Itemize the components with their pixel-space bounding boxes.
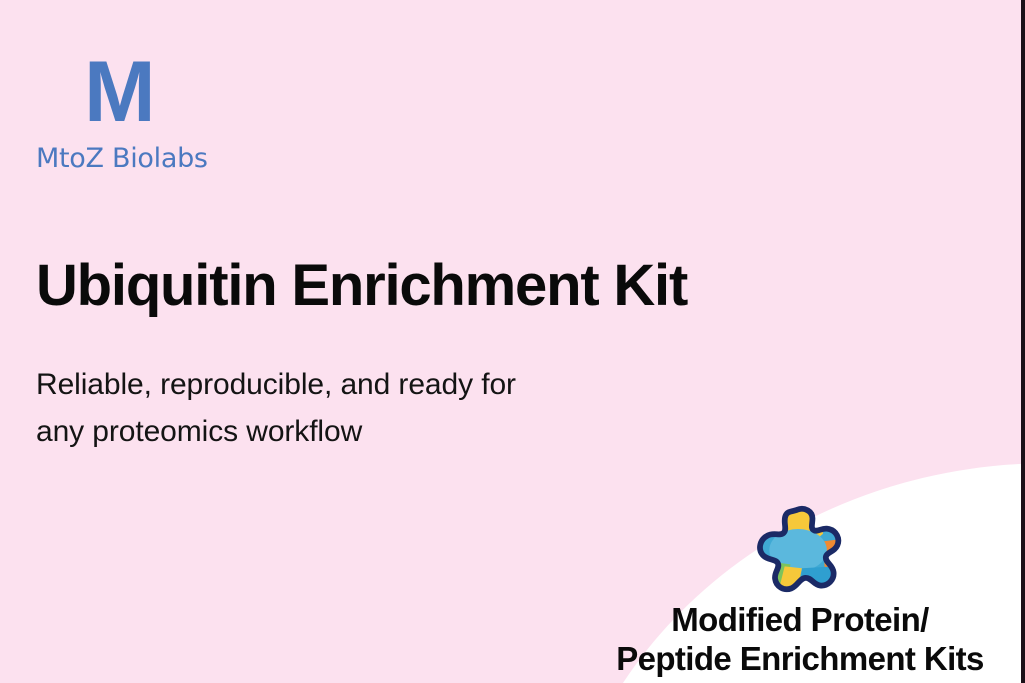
product-badge: Modified Protein/ Peptide Enrichment Kit… [576,505,1024,678]
badge-caption-line-2: Peptide Enrichment Kits [576,640,1024,679]
logo-wordmark: MtoZ Biolabs [36,143,296,174]
page-subtitle: Reliable, reproducible, and ready for an… [36,361,516,456]
logo-mark-letter: M [84,52,296,134]
brand-logo[interactable]: M MtoZ Biolabs [36,52,296,174]
subtitle-line-2: any proteomics workflow [36,408,516,455]
page-title: Ubiquitin Enrichment Kit [36,256,687,317]
subtitle-line-1: Reliable, reproducible, and ready for [36,361,516,408]
badge-caption: Modified Protein/ Peptide Enrichment Kit… [576,601,1024,678]
promo-banner: M MtoZ Biolabs Ubiquitin Enrichment Kit … [0,0,1025,683]
splat-blob-icon [752,505,848,597]
badge-caption-line-1: Modified Protein/ [576,601,1024,640]
